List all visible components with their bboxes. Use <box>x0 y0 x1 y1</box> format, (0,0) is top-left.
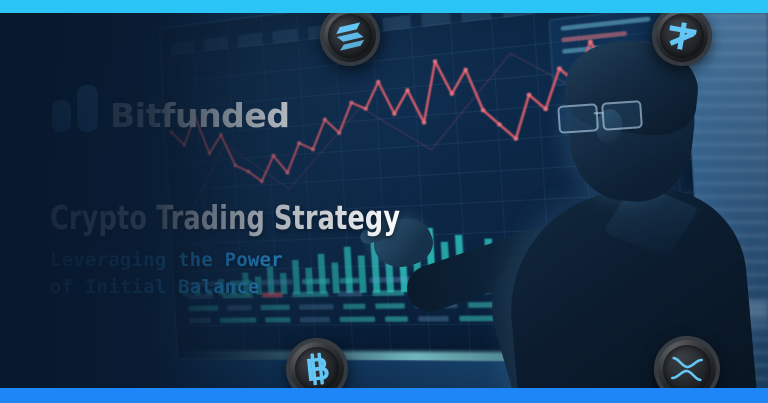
headline-block: Crypto Trading Strategy Leveraging the P… <box>50 201 400 301</box>
page-subtitle: Leveraging the Power of Initial Balance <box>50 247 400 301</box>
glasses-lens-right <box>601 100 643 131</box>
coin-face <box>324 10 376 62</box>
trader-silhouette <box>496 41 746 388</box>
solana-glyph <box>332 20 367 52</box>
page-title: Crypto Trading Strategy <box>50 201 351 236</box>
glasses-icon <box>557 100 643 132</box>
banner-root: Bitfunded Crypto Trading Strategy Levera… <box>0 0 768 403</box>
bar-logo-icon <box>52 85 98 132</box>
top-accent-band <box>0 0 768 13</box>
xrp-glyph <box>669 355 705 383</box>
logo-bar-tall <box>77 85 98 132</box>
glasses-lens-left <box>557 103 599 134</box>
coin-face <box>657 11 707 61</box>
bitcoin-glyph <box>301 352 332 387</box>
logo-bar-short <box>52 100 71 132</box>
content-column: Bitfunded Crypto Trading Strategy Levera… <box>0 13 360 388</box>
coin-face <box>662 344 713 395</box>
subtitle-line-1: Leveraging the Power <box>50 249 283 271</box>
brand-name: Bitfunded <box>110 99 290 132</box>
bottom-accent-band <box>0 388 768 403</box>
brand-logo[interactable]: Bitfunded <box>52 85 290 132</box>
coin-face <box>292 344 341 393</box>
subtitle-line-2: of Initial Balance <box>50 276 260 298</box>
x-token-glyph <box>665 19 700 54</box>
